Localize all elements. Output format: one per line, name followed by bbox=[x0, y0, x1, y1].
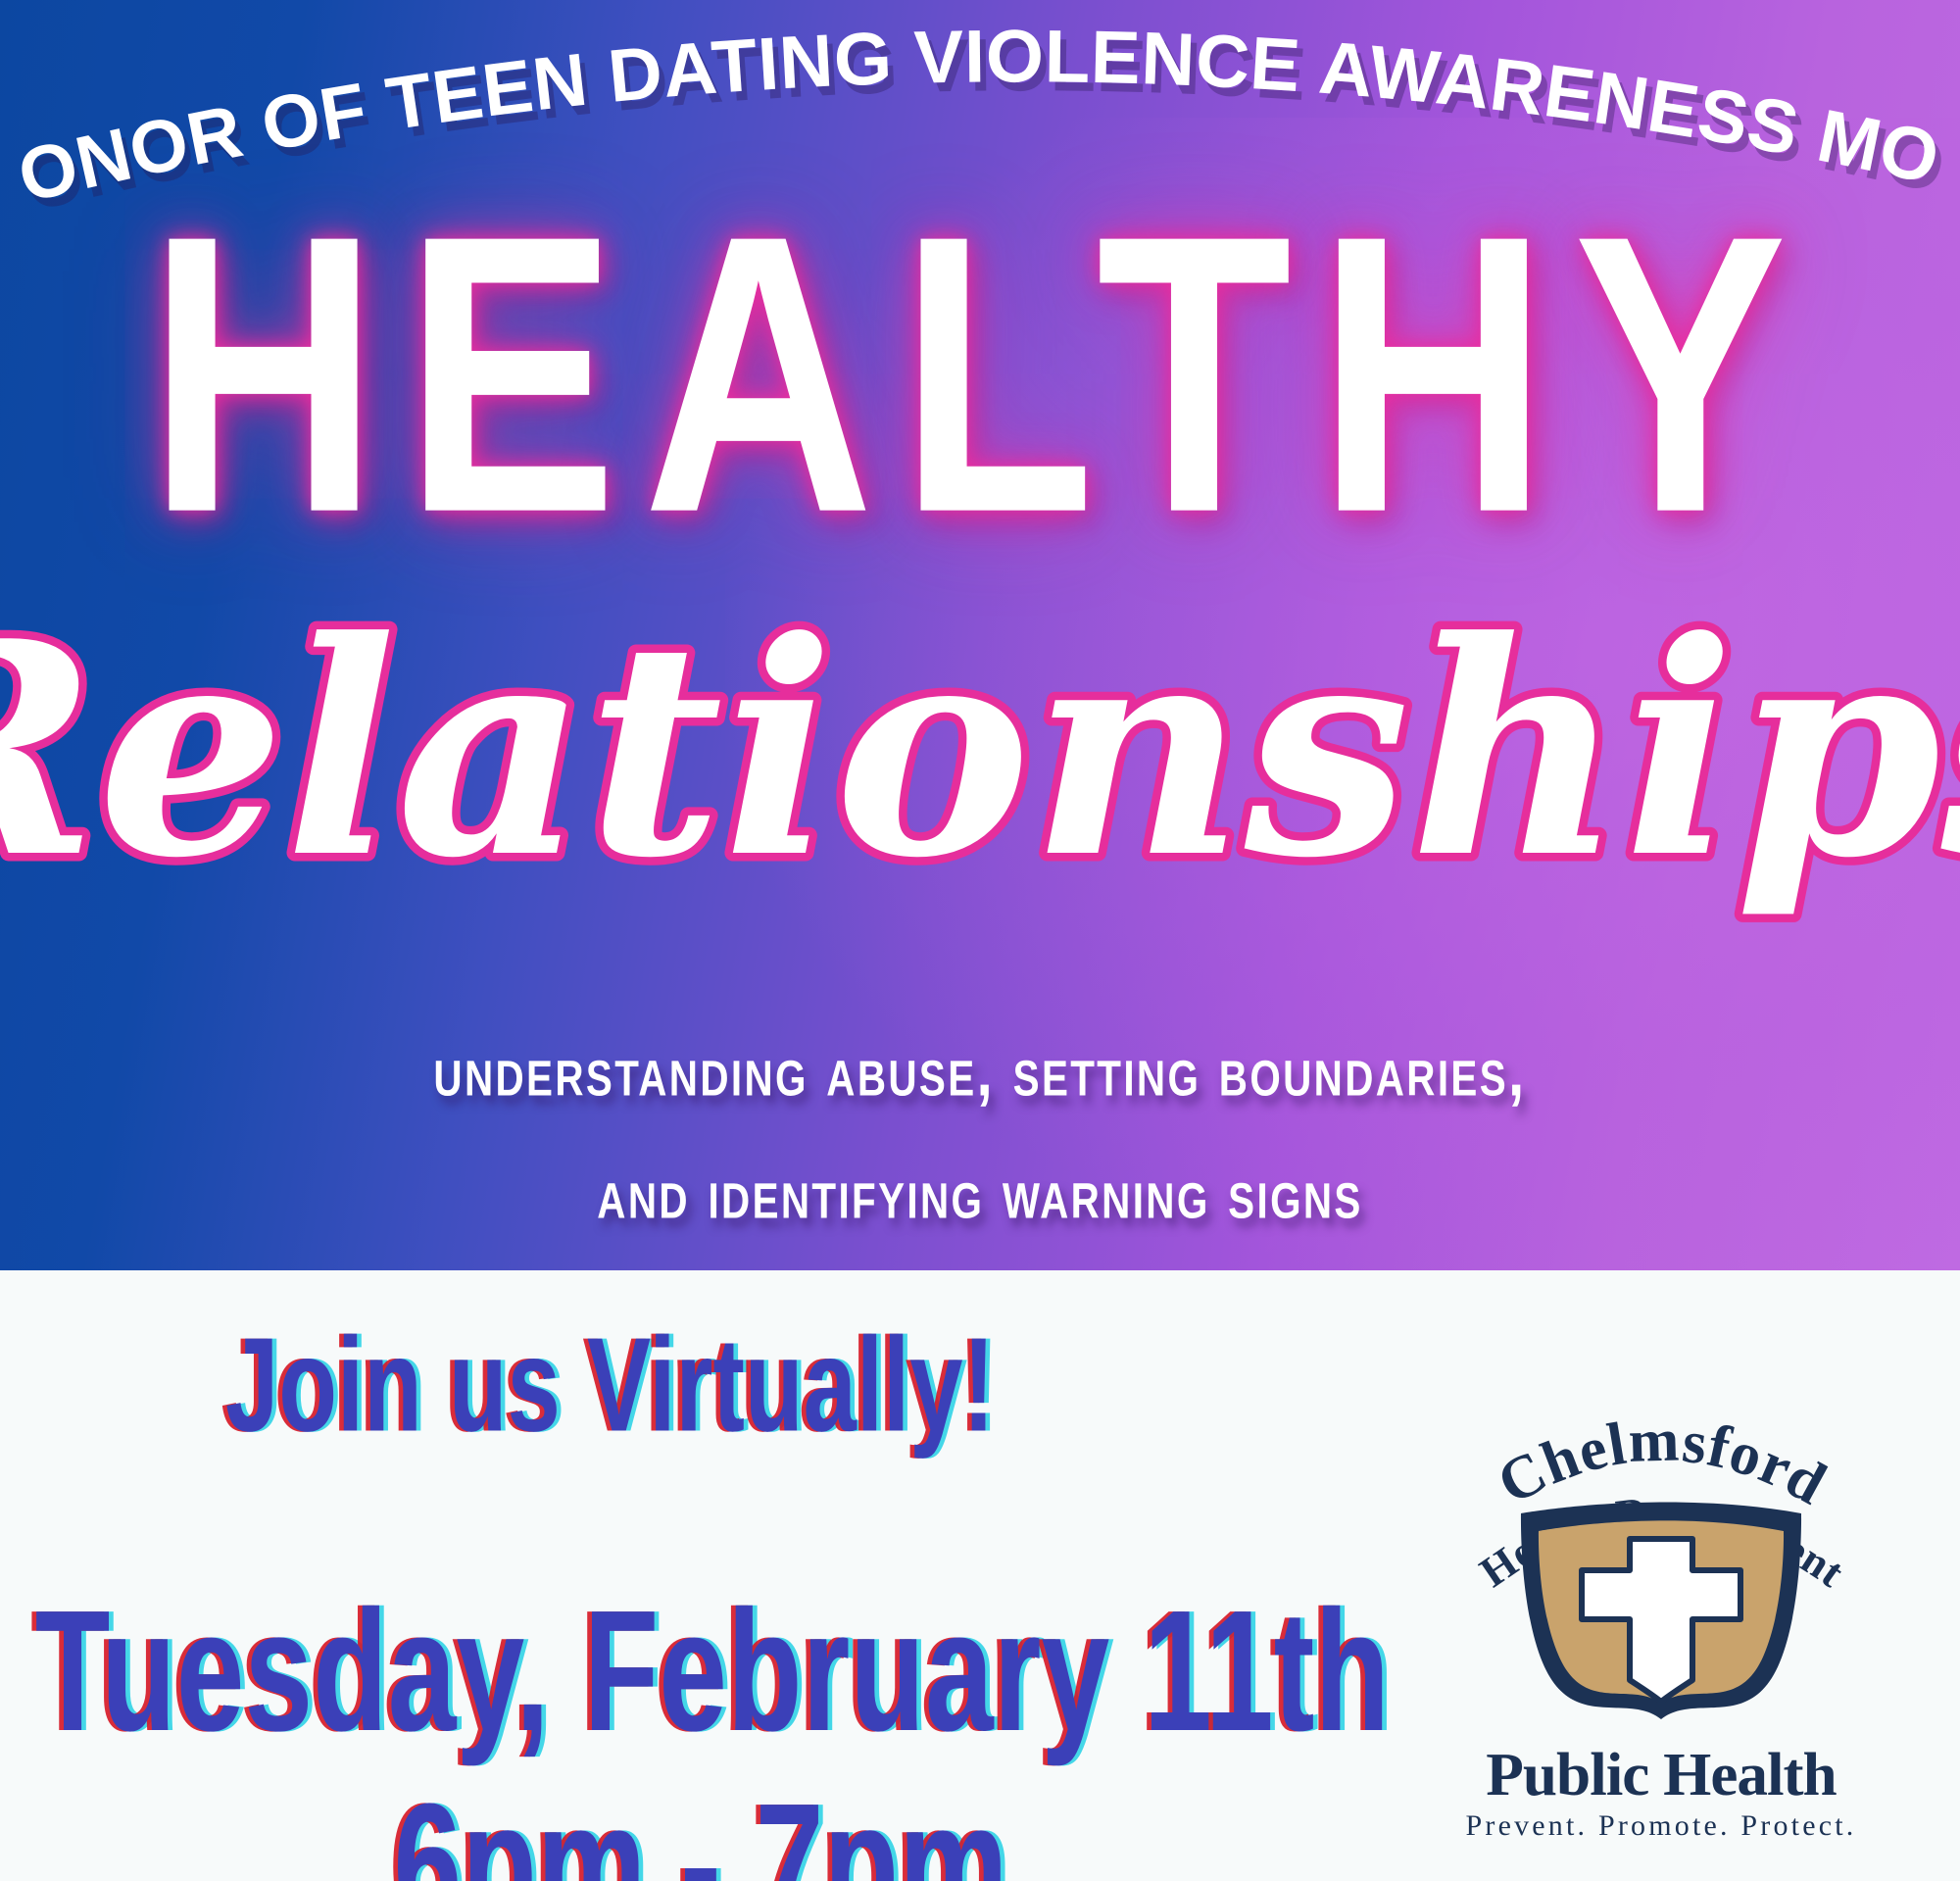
hero-subtitle-line-2: and Identifying Warning Signs bbox=[59, 1138, 1901, 1255]
event-datetime-block: Tuesday, February 11th 6pm - 7pm bbox=[0, 1584, 1401, 1881]
hero-subtitle-line-1: Understanding Abuse, Setting Boundaries, bbox=[59, 1015, 1901, 1131]
poster-root: IN HONOR OF TEEN DATING VIOLENCE AWARENE… bbox=[0, 0, 1960, 1881]
event-time: 6pm - 7pm bbox=[35, 1777, 1367, 1881]
title-relationships-text: Relationships bbox=[0, 576, 1960, 922]
logo-wordmark-public-health: Public Health bbox=[1396, 1741, 1927, 1810]
logo-tagline: Prevent. Promote. Protect. bbox=[1401, 1809, 1921, 1843]
hero-gradient-panel: IN HONOR OF TEEN DATING VIOLENCE AWARENE… bbox=[0, 0, 1960, 1270]
chelmsford-health-department-logo: Chelmsford Health Department Public Heal… bbox=[1401, 1374, 1921, 1864]
join-virtually-heading: Join us Virtually! bbox=[225, 1310, 995, 1462]
event-date: Tuesday, February 11th bbox=[35, 1584, 1367, 1759]
hero-subtitle: Understanding Abuse, Setting Boundaries,… bbox=[59, 1015, 1901, 1254]
title-relationships: Relationships bbox=[0, 490, 1960, 1019]
